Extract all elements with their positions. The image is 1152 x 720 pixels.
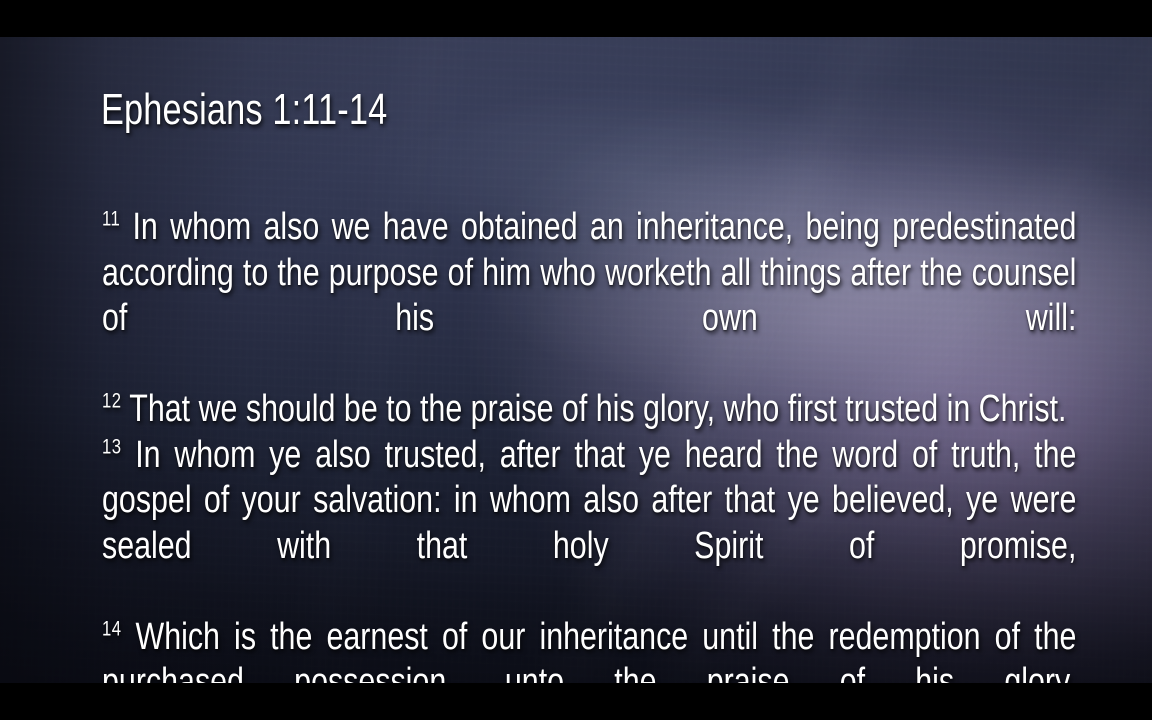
letterbox-bar-bottom [0,683,1152,720]
slide-content: Ephesians 1:11-14 11 In whom also we hav… [0,37,1152,683]
verse-number: 13 [102,435,121,458]
verse-text: That we should be to the praise of his g… [129,388,1066,430]
verse-paragraph: 11 In whom also we have obtained an inhe… [102,205,1076,387]
presentation-slide: Ephesians 1:11-14 11 In whom also we hav… [0,0,1152,720]
page-title: Ephesians 1:11-14 [101,85,387,135]
scripture-body: 11 In whom also we have obtained an inhe… [102,205,1076,720]
verse-paragraph: 12 That we should be to the praise of hi… [102,387,1076,433]
verse-text: In whom also we have obtained an inherit… [102,206,1076,339]
verse-text: In whom ye also trusted, after that ye h… [102,434,1076,567]
verse-number: 11 [102,207,120,230]
verse-paragraph: 13 In whom ye also trusted, after that y… [102,433,1076,615]
letterbox-bar-top [0,0,1152,37]
verse-number: 12 [102,389,121,412]
verse-number: 14 [102,617,121,640]
